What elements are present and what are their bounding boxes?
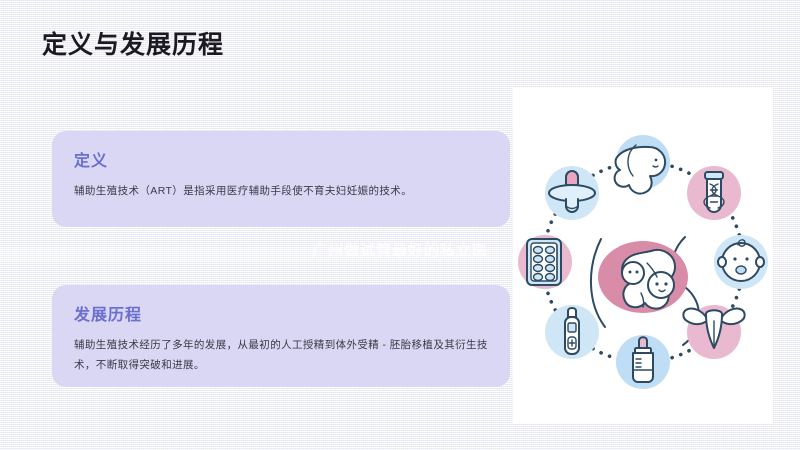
definition-card-body: 辅助生殖技术（ART）是指采用医疗辅助手段使不育夫妇妊娠的技术。 xyxy=(74,182,488,202)
history-card-heading: 发展历程 xyxy=(74,301,488,325)
history-card-body: 辅助生殖技术经历了多年的发展，从最初的人工授精到体外受精 - 胚胎移植及其衍生技… xyxy=(74,336,488,376)
definition-card-heading: 定义 xyxy=(74,147,488,171)
baby-bottle-icon xyxy=(616,335,670,389)
watermark-text: 广州做试管最好的私立医 xyxy=(312,239,488,260)
definition-card: 定义 辅助生殖技术（ART）是指采用医疗辅助手段使不育夫妇妊娠的技术。 xyxy=(52,131,510,227)
pacifier-icon xyxy=(545,166,599,220)
dna-tube-icon xyxy=(687,166,741,220)
illustration-panel: .st { fill:none; stroke:#2d4a63; stroke-… xyxy=(513,87,773,423)
page-title: 定义与发展历程 xyxy=(42,30,224,60)
pill-blister-icon xyxy=(518,235,572,289)
twins-in-womb-icon xyxy=(598,241,688,313)
slide-canvas: 定义与发展历程 定义 辅助生殖技术（ART）是指采用医疗辅助手段使不育夫妇妊娠的… xyxy=(0,0,800,450)
pregnancy-test-icon xyxy=(545,305,599,359)
history-card: 发展历程 辅助生殖技术经历了多年的发展，从最初的人工授精到体外受精 - 胚胎移植… xyxy=(52,285,510,387)
reproductive-technology-illustration: .st { fill:none; stroke:#2d4a63; stroke-… xyxy=(513,87,773,423)
baby-face-icon xyxy=(714,235,768,289)
